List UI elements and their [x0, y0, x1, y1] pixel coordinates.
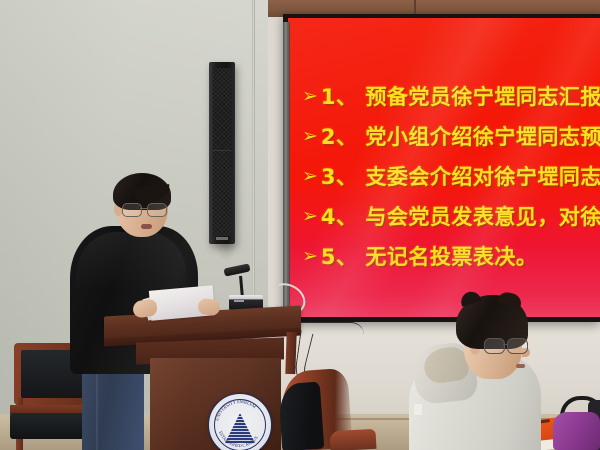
chair-center-backrest-pad — [278, 382, 325, 450]
chair-center-post — [285, 332, 296, 374]
screen-left-bezel — [283, 22, 290, 314]
attendee-lens-right — [507, 338, 528, 354]
speaker-brand-logo — [216, 237, 228, 240]
presenter-hand-right — [197, 298, 221, 316]
svg-text:ESTABLISHED CAMPUS: ESTABLISHED CAMPUS — [218, 430, 259, 448]
arrow-bullet-icon: ➢ — [302, 127, 318, 146]
slide-line-1-text: 1、 预备党员徐宁堽同志汇报预备期 — [321, 81, 600, 111]
emblem-arc-text: UNIVERSITY EMBLEM ESTABLISHED CAMPUS — [209, 394, 271, 450]
projection-screen: ➢ 1、 预备党员徐宁堽同志汇报预备期 ➢ 2、 党小组介绍徐宁堽同志预备期间 … — [288, 18, 600, 317]
speaker-shadow — [215, 244, 237, 262]
slide-line-4-text: 4、 与会党员发表意见，对徐宁堽 — [321, 201, 600, 231]
attendee-mouth — [516, 364, 525, 368]
podium-emblem: UNIVERSITY EMBLEM ESTABLISHED CAMPUS — [208, 393, 272, 450]
slide-line-5: ➢ 5、 无记名投票表决。 — [302, 236, 600, 276]
slide-bullet-list: ➢ 1、 预备党员徐宁堽同志汇报预备期 ➢ 2、 党小组介绍徐宁堽同志预备期间 … — [302, 76, 600, 276]
purple-bag — [553, 412, 600, 450]
presenter-jeans-fold — [96, 368, 98, 450]
slide-line-4: ➢ 4、 与会党员发表意见，对徐宁堽 — [302, 196, 600, 236]
arrow-bullet-icon: ➢ — [302, 247, 318, 266]
presenter-lens-left — [122, 203, 142, 217]
speaker-seam — [213, 150, 231, 151]
microphone-base-label — [234, 300, 244, 302]
attendee-lens-left — [484, 338, 505, 354]
meeting-room-photo: ➢ 1、 预备党员徐宁堽同志汇报预备期 ➢ 2、 党小组介绍徐宁堽同志预备期间 … — [0, 0, 600, 450]
chair-center-armrest — [330, 429, 377, 450]
arrow-bullet-icon: ➢ — [302, 167, 318, 186]
svg-text:UNIVERSITY EMBLEM: UNIVERSITY EMBLEM — [214, 399, 257, 421]
arrow-bullet-icon: ➢ — [302, 87, 318, 106]
presenter-jeans — [82, 368, 144, 450]
slide-line-2: ➢ 2、 党小组介绍徐宁堽同志预备期间 — [302, 116, 600, 156]
speaker-grille-icon — [213, 68, 231, 236]
slide-line-2-text: 2、 党小组介绍徐宁堽同志预备期间 — [321, 121, 600, 151]
slide-line-3: ➢ 3、 支委会介绍对徐宁堽同志预备 — [302, 156, 600, 196]
slide-line-3-text: 3、 支委会介绍对徐宁堽同志预备 — [321, 161, 600, 191]
slide-line-5-text: 5、 无记名投票表决。 — [321, 241, 537, 271]
arrow-bullet-icon: ➢ — [302, 207, 318, 226]
slide-line-1: ➢ 1、 预备党员徐宁堽同志汇报预备期 — [302, 76, 600, 116]
presenter-lens-right — [147, 203, 167, 217]
presenter-glasses-icon — [122, 203, 168, 215]
presenter-mouth — [141, 224, 152, 229]
attendee-hoodie-tag — [414, 404, 422, 415]
presenter-shoulder-highlight — [76, 232, 186, 292]
attendee-glasses-icon — [484, 338, 526, 352]
presenter-glasses-bridge — [140, 208, 147, 209]
column-speaker — [209, 62, 235, 244]
